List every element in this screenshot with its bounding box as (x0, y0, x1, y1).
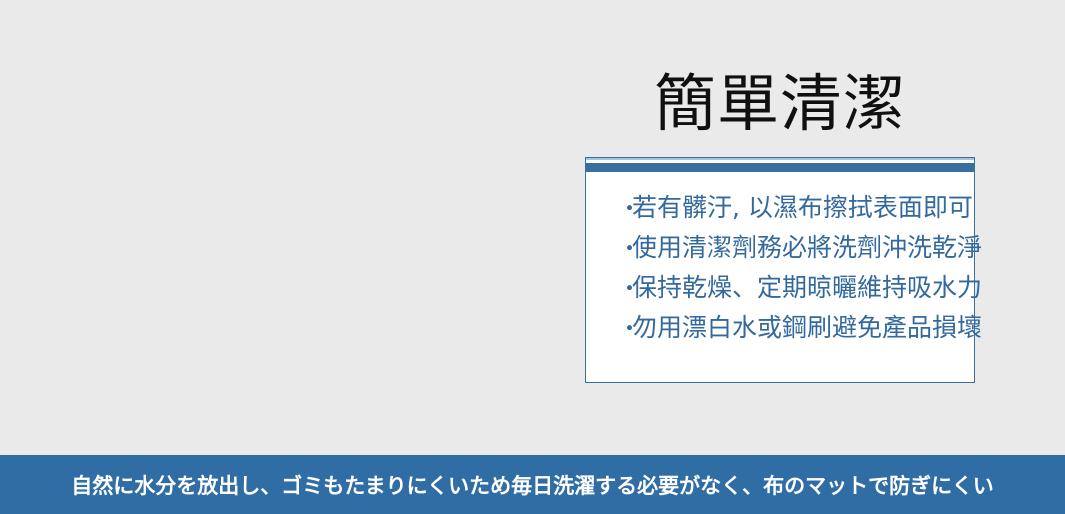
card-top-hairline (586, 158, 974, 160)
page-title: 簡單清潔 (585, 68, 975, 139)
list-item: ・勿用漂白水或鋼刷避免產品損壞 (586, 308, 974, 348)
list-item: ・使用清潔劑務必將洗劑沖洗乾淨 (586, 228, 974, 268)
bullet-dot-icon: ・ (618, 309, 632, 349)
bullet-dot-icon: ・ (618, 269, 632, 309)
card-accent-bar (586, 163, 974, 172)
list-item-label: 勿用漂白水或鋼刷避免產品損壞 (632, 313, 982, 342)
bullet-dot-icon: ・ (618, 229, 632, 269)
list-item: ・保持乾燥、定期晾曬維持吸水力 (586, 268, 974, 308)
slide-canvas: 簡單清潔 ・若有髒汙, 以濕布擦拭表面即可 ・使用清潔劑務必將洗劑沖洗乾淨 ・保… (0, 0, 1065, 514)
list-item-label: 若有髒汙, 以濕布擦拭表面即可 (632, 193, 973, 222)
bottom-banner: 自然に水分を放出し、ゴミもたまりにくいため毎日洗濯する必要がなく、布のマットで防… (0, 455, 1065, 514)
list-item: ・若有髒汙, 以濕布擦拭表面即可 (586, 188, 974, 228)
care-instructions-card: ・若有髒汙, 以濕布擦拭表面即可 ・使用清潔劑務必將洗劑沖洗乾淨 ・保持乾燥、定… (585, 157, 975, 383)
list-item-label: 保持乾燥、定期晾曬維持吸水力 (632, 273, 982, 302)
care-instructions-list: ・若有髒汙, 以濕布擦拭表面即可 ・使用清潔劑務必將洗劑沖洗乾淨 ・保持乾燥、定… (586, 188, 974, 348)
bullet-dot-icon: ・ (618, 189, 632, 229)
banner-caption: 自然に水分を放出し、ゴミもたまりにくいため毎日洗濯する必要がなく、布のマットで防… (71, 470, 994, 500)
list-item-label: 使用清潔劑務必將洗劑沖洗乾淨 (632, 233, 982, 262)
